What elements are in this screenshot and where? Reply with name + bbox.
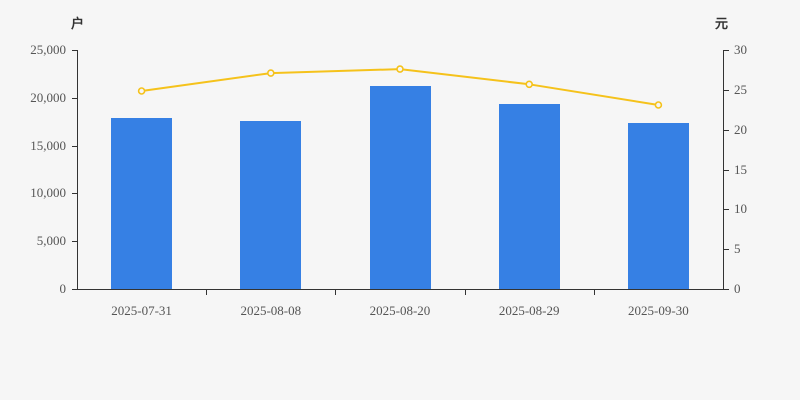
left-axis-line: [77, 50, 78, 289]
right-tick-mark: [724, 209, 729, 210]
right-tick-label: 0: [734, 282, 741, 295]
x-axis-label: 2025-08-20: [335, 304, 464, 317]
left-tick-label: 10,000: [30, 186, 66, 199]
x-axis-label: 2025-09-30: [594, 304, 723, 317]
right-tick-mark: [724, 130, 729, 131]
left-tick-label: 15,000: [30, 139, 66, 152]
right-tick-label: 10: [734, 202, 747, 215]
right-tick-mark: [724, 249, 729, 250]
left-tick-label: 0: [60, 282, 67, 295]
right-tick-mark: [724, 90, 729, 91]
left-tick-mark: [72, 289, 77, 290]
right-tick-mark: [724, 170, 729, 171]
bar[interactable]: [240, 121, 301, 289]
chart-container: 户 元 05,00010,00015,00020,00025,000 05101…: [0, 0, 800, 400]
left-tick-mark: [72, 98, 77, 99]
left-tick-label: 25,000: [30, 43, 66, 56]
x-axis-line: [77, 289, 724, 290]
left-axis-unit-label: 户: [71, 18, 84, 31]
right-tick-mark: [724, 50, 729, 51]
left-tick-label: 5,000: [37, 234, 66, 247]
right-tick-mark: [724, 289, 729, 290]
x-axis-label: 2025-08-08: [206, 304, 335, 317]
line-marker[interactable]: [397, 66, 403, 72]
line-marker[interactable]: [526, 81, 532, 87]
right-tick-label: 15: [734, 163, 747, 176]
right-tick-label: 25: [734, 83, 747, 96]
bar[interactable]: [499, 104, 560, 289]
left-tick-mark: [72, 193, 77, 194]
left-tick-mark: [72, 146, 77, 147]
left-tick-mark: [72, 241, 77, 242]
right-axis-unit-label: 元: [715, 18, 728, 31]
line-marker[interactable]: [268, 70, 274, 76]
line-marker[interactable]: [139, 88, 145, 94]
right-tick-label: 30: [734, 43, 747, 56]
left-tick-label: 20,000: [30, 91, 66, 104]
bar[interactable]: [111, 118, 172, 289]
line-marker[interactable]: [655, 102, 661, 108]
bar[interactable]: [628, 123, 689, 289]
right-tick-label: 20: [734, 123, 747, 136]
left-tick-mark: [72, 50, 77, 51]
right-tick-label: 5: [734, 242, 741, 255]
x-tick-mark: [594, 290, 595, 295]
x-tick-mark: [206, 290, 207, 295]
x-axis-label: 2025-07-31: [77, 304, 206, 317]
bar[interactable]: [370, 86, 431, 289]
x-axis-label: 2025-08-29: [465, 304, 594, 317]
x-tick-mark: [465, 290, 466, 295]
x-tick-mark: [335, 290, 336, 295]
